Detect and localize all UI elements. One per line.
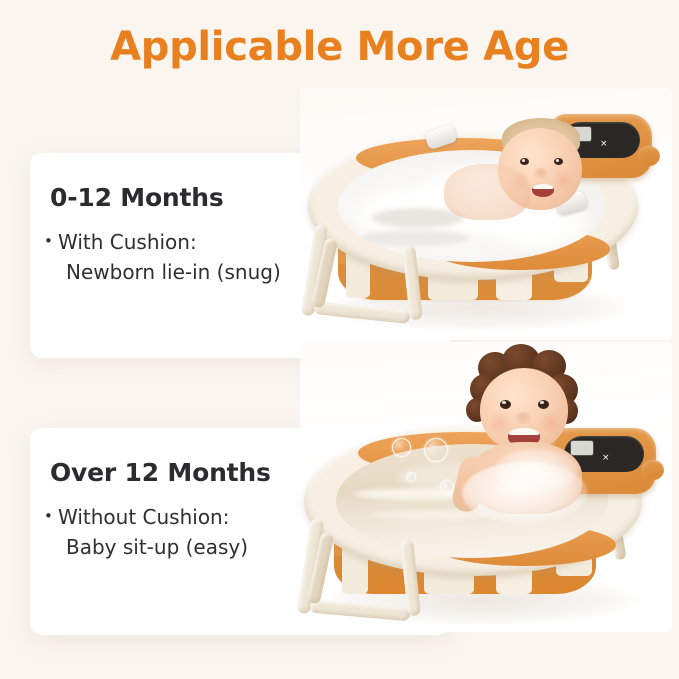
card-body-line-1: With Cushion: [58,230,197,254]
card-body-line-2: Newborn lie-in (snug) [44,257,281,287]
product-photo-without-cushion: × [300,342,672,632]
baby-eye-shine-left [522,159,525,162]
card-heading: Over 12 Months [50,458,271,487]
tub-leg-front-left-foot [314,301,411,324]
tub-ear-knob [642,460,664,480]
baby-lying [476,118,606,228]
bathtub-assembly: × [300,342,672,632]
baby-sitting [450,344,610,524]
baby-nose [515,412,531,424]
card-body-line-1: Without Cushion: [58,505,229,529]
card-heading: 0-12 Months [50,183,224,212]
bullet-icon: • [44,501,58,531]
bubble-rim [392,438,411,457]
baby-teeth [532,184,554,189]
foam-over-chest-2 [494,448,578,494]
product-photo-with-cushion: × [300,88,672,340]
card-body: •With Cushion: Newborn lie-in (snug) [44,226,281,287]
tub-ear-knob [638,146,660,166]
tub-leg-front-left-foot [310,600,411,622]
baby-teeth [508,428,540,435]
baby-eye-shine-right [540,401,544,404]
baby-torso [444,164,530,220]
bathtub-assembly: × [300,88,672,340]
bullet-icon: • [44,226,58,256]
bubble-float-3 [406,472,416,482]
page-title: Applicable More Age [0,24,679,70]
baby-eye-shine-left [502,401,506,404]
foam-swirl-2 [360,230,470,246]
card-body-line-2: Baby sit-up (easy) [44,532,248,562]
bubble-float-1 [424,438,448,462]
baby-eye-shine-right [556,159,559,162]
infographic-page: Applicable More Age 0-12 Months •With Cu… [0,0,679,679]
baby-cheek-right [536,412,564,434]
baby-nose [534,168,548,179]
card-body: •Without Cushion: Baby sit-up (easy) [44,501,248,562]
baby-mouth [532,184,554,197]
